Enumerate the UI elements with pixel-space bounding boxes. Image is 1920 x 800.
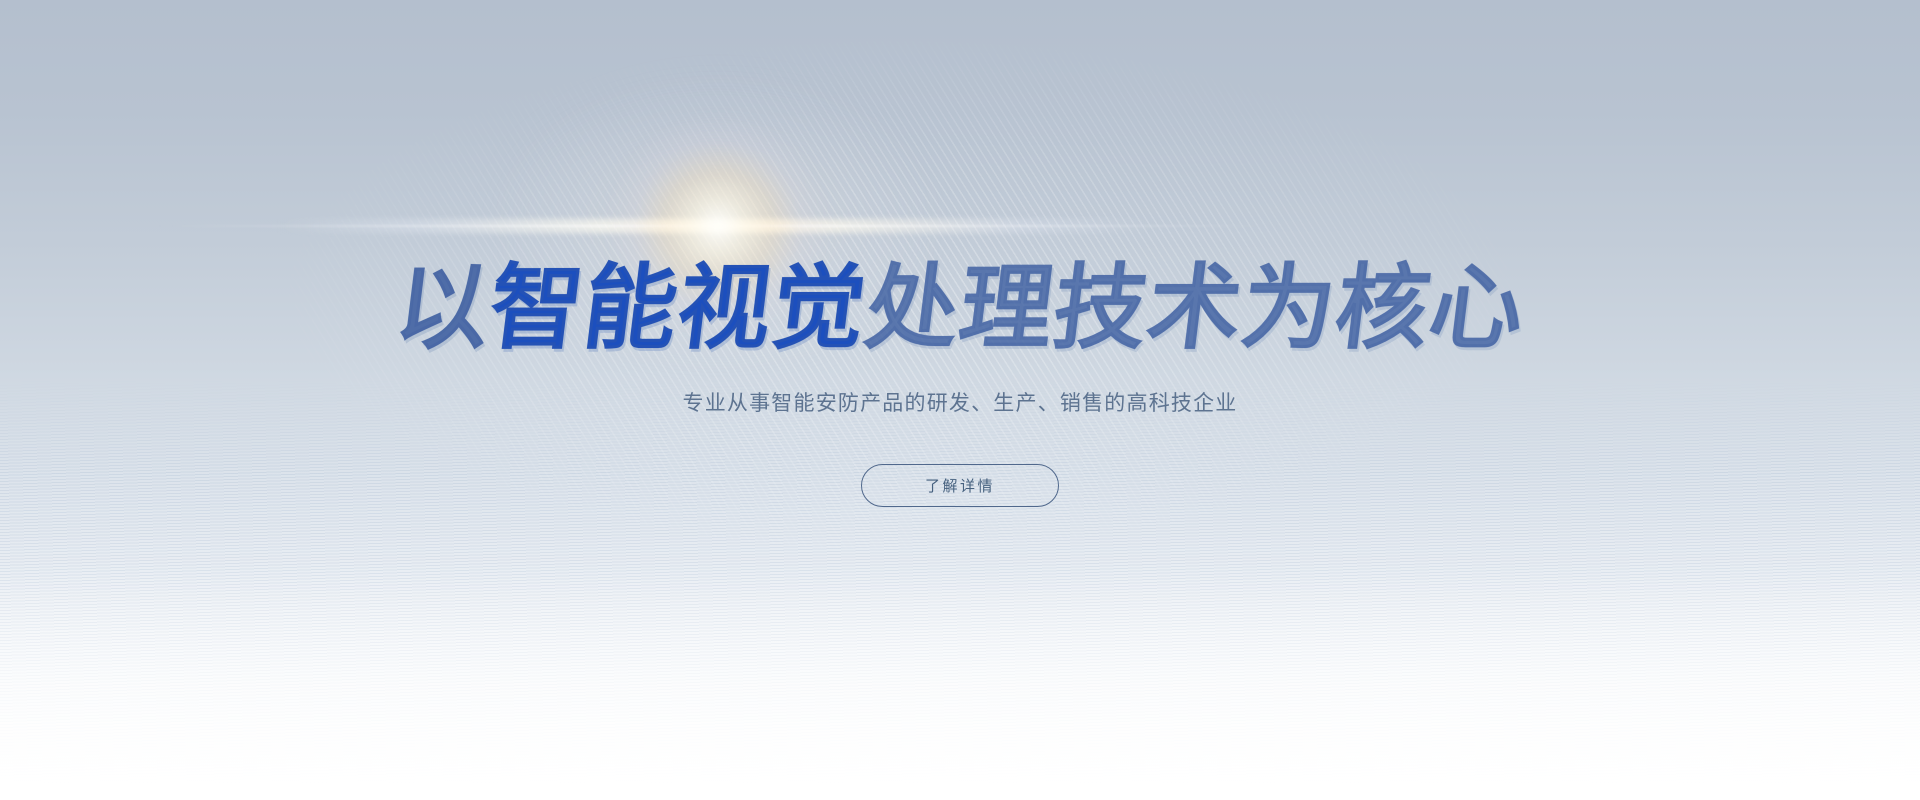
hero-banner: 以智能视觉处理技术为核心 专业从事智能安防产品的研发、生产、销售的高科技企业 了… [0, 0, 1920, 800]
headline-segment-b: 智能视觉 [483, 254, 872, 362]
headline-segment-c: 处理技术为核心 [859, 254, 1530, 362]
page-title: 以智能视觉处理技术为核心 [390, 262, 1529, 355]
hero-content: 以智能视觉处理技术为核心 专业从事智能安防产品的研发、生产、销售的高科技企业 了… [0, 0, 1920, 800]
hero-subtitle: 专业从事智能安防产品的研发、生产、销售的高科技企业 [683, 387, 1238, 417]
learn-more-button-label: 了解详情 [925, 475, 995, 496]
learn-more-button[interactable]: 了解详情 [861, 464, 1059, 507]
headline-segment-a: 以 [389, 254, 496, 362]
